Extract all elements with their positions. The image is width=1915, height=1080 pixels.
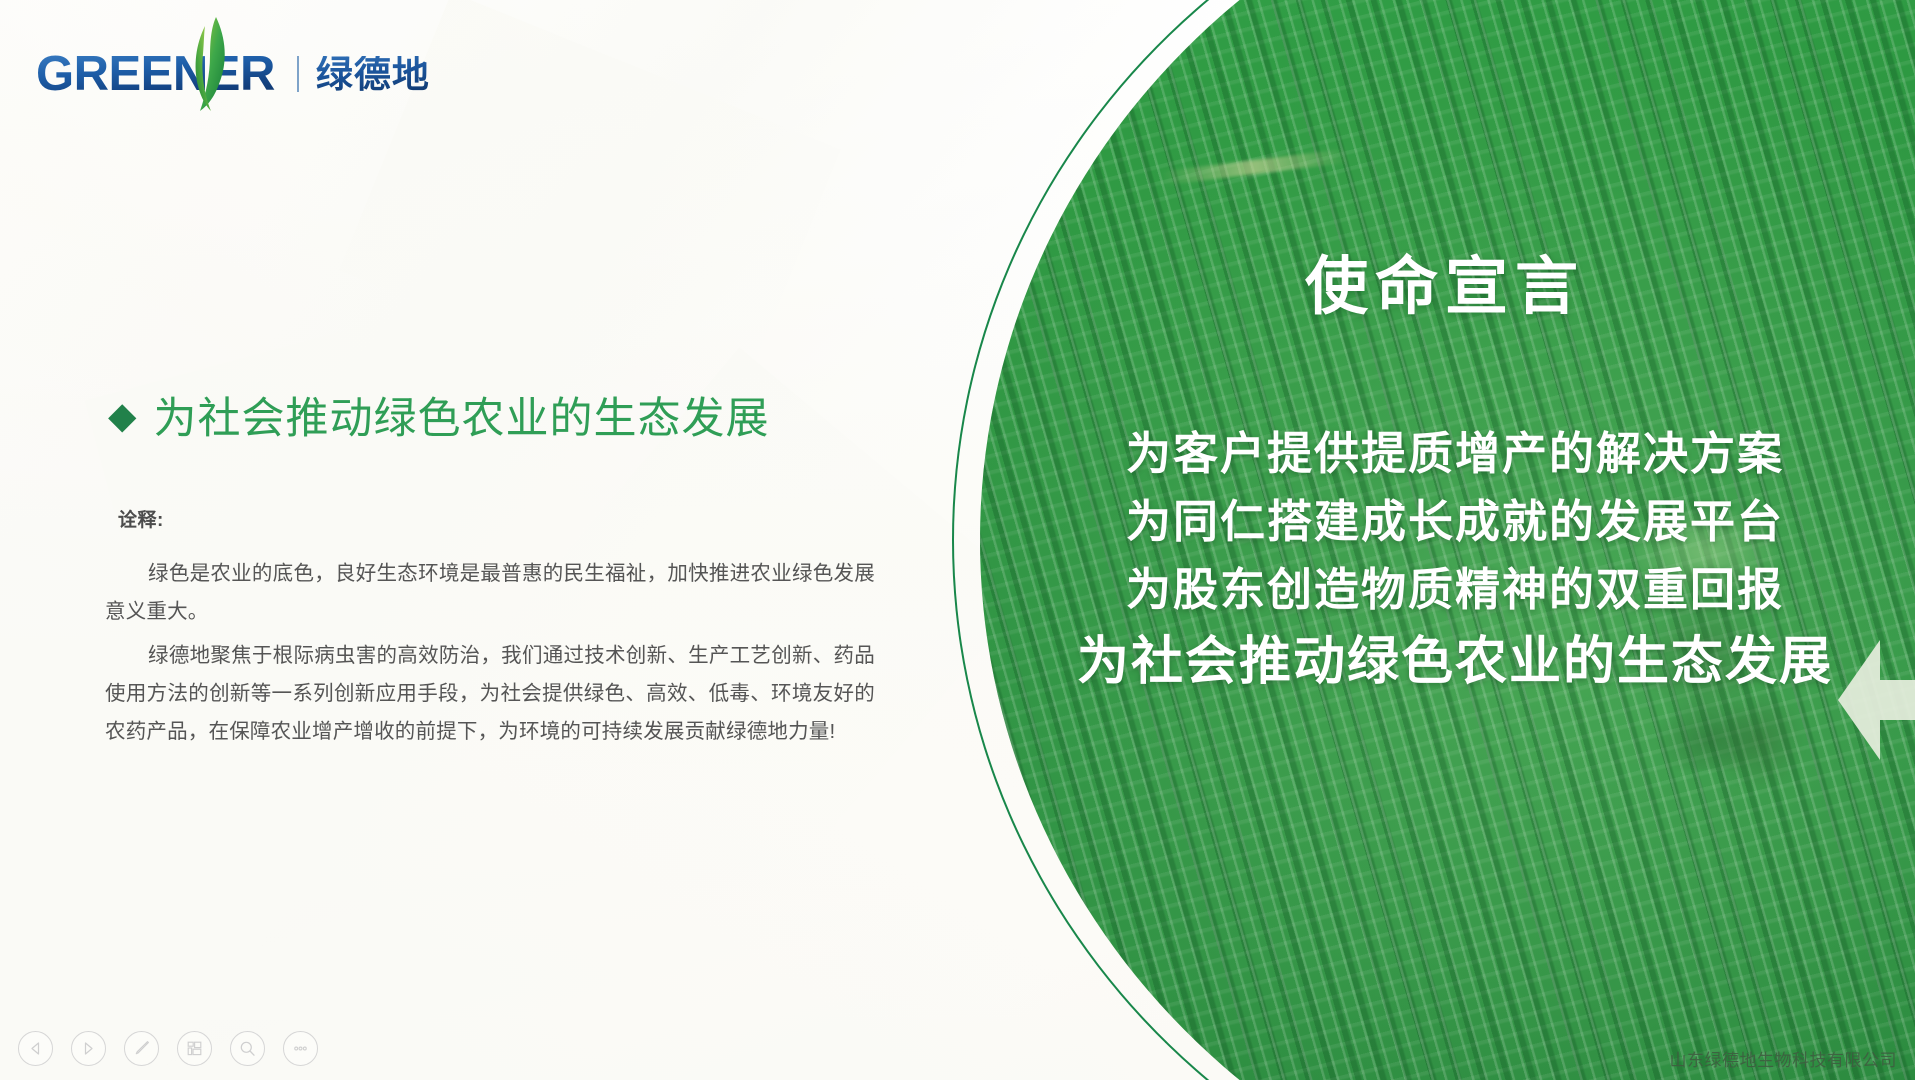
- footer-company-name: 山东绿德地生物科技有限公司: [1670, 1046, 1898, 1071]
- triangle-left-icon: [28, 1041, 43, 1056]
- explanation-body: 绿色是农业的底色，良好生态环境是最普惠的民生福祉，加快推进农业绿色发展意义重大。…: [105, 555, 875, 757]
- grid-slides-icon: [185, 1039, 204, 1058]
- mission-statement-line: 为客户提供提质增产的解决方案: [1005, 420, 1905, 488]
- presentation-toolbar: [18, 1031, 318, 1066]
- slide-canvas: GREENER 绿德地: [0, 0, 1915, 1080]
- section-headline-text: 为社会推动绿色农业的生态发展: [153, 384, 769, 446]
- more-options-button[interactable]: [283, 1031, 318, 1066]
- previous-slide-button[interactable]: [18, 1031, 53, 1066]
- left-content-area: ◆ 为社会推动绿色农业的生态发展 诠释: 绿色是农业的底色，良好生态环境是最普惠…: [0, 0, 960, 1080]
- slide-overview-button[interactable]: [177, 1031, 212, 1066]
- diamond-bullet-icon: ◆: [108, 397, 137, 434]
- field-track: [1160, 148, 1350, 185]
- zoom-button[interactable]: [230, 1031, 265, 1066]
- next-slide-button[interactable]: [71, 1031, 106, 1066]
- mission-title: 使命宣言: [1005, 236, 1885, 327]
- pen-icon: [132, 1039, 151, 1058]
- paragraph: 绿色是农业的底色，良好生态环境是最普惠的民生福祉，加快推进农业绿色发展意义重大。: [105, 555, 875, 631]
- section-headline: ◆ 为社会推动绿色农业的生态发展: [108, 384, 769, 446]
- paragraph: 绿德地聚焦于根际病虫害的高效防治，我们通过技术创新、生产工艺创新、药品使用方法的…: [105, 637, 875, 751]
- ellipsis-icon: [291, 1039, 310, 1058]
- triangle-right-icon: [81, 1041, 96, 1056]
- mission-statement-line: 为股东创造物质精神的双重回报: [1005, 556, 1905, 624]
- magnifier-icon: [238, 1039, 257, 1058]
- pen-annotate-button[interactable]: [124, 1031, 159, 1066]
- mission-statement-line: 为同仁搭建成长成就的发展平台: [1005, 488, 1905, 556]
- mission-statement-line: 为社会推动绿色农业的生态发展: [1005, 624, 1905, 700]
- mission-statement-list: 为客户提供提质增产的解决方案 为同仁搭建成长成就的发展平台 为股东创造物质精神的…: [1005, 420, 1905, 700]
- explanation-label: 诠释:: [118, 505, 164, 532]
